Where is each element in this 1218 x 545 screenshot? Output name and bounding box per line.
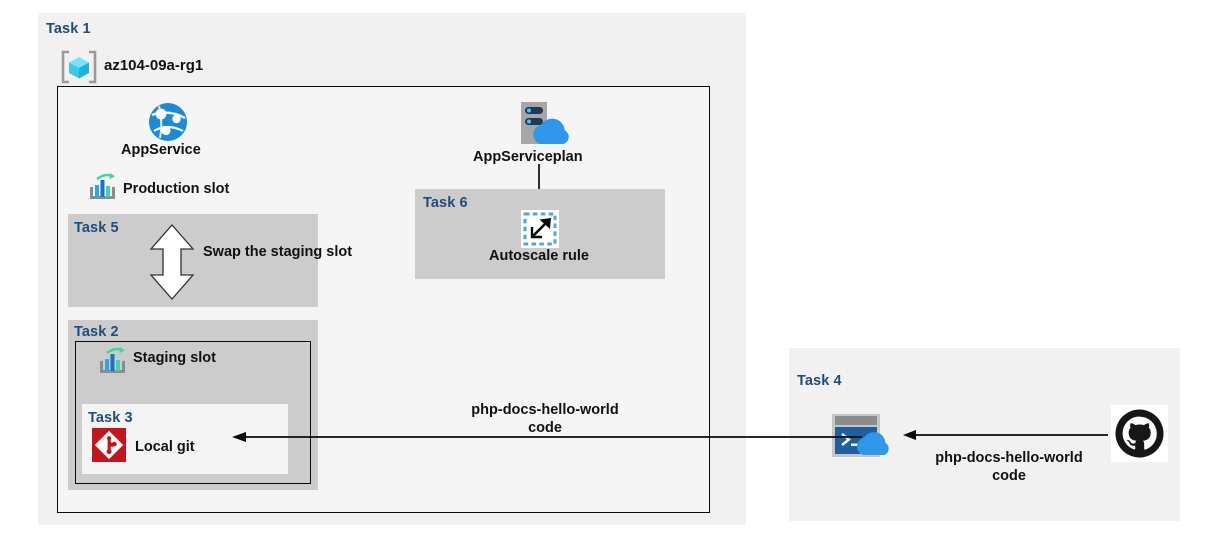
task6-label: Task 6 bbox=[423, 195, 468, 211]
git-logo-icon bbox=[92, 428, 126, 462]
double-headed-vertical-arrow-icon bbox=[148, 223, 196, 301]
appservice-label: AppService bbox=[121, 142, 201, 160]
task2-label: Task 2 bbox=[74, 324, 119, 340]
production-slot-label: Production slot bbox=[123, 181, 229, 199]
github-logo-icon bbox=[1111, 405, 1168, 462]
center-arrow-label: php-docs-hello-world code bbox=[462, 402, 628, 437]
resource-group-name: az104-09a-rg1 bbox=[104, 57, 203, 75]
autoscale-rule-label: Autoscale rule bbox=[489, 248, 589, 266]
diagram-canvas: Task 1 az104-09a-rg1 AppService bbox=[0, 0, 1218, 545]
app-service-globe-icon bbox=[147, 101, 189, 143]
task3-label: Task 3 bbox=[88, 410, 133, 426]
task1-label: Task 1 bbox=[46, 21, 91, 37]
task4-arrow-label: php-docs-hello-world code bbox=[925, 450, 1093, 485]
task4-label: Task 4 bbox=[797, 373, 842, 389]
task5-description-text: Swap the staging slot bbox=[203, 244, 352, 260]
resource-group-cube-icon bbox=[60, 50, 98, 84]
cloud-shell-icon bbox=[831, 413, 901, 458]
task5-description: Swap the staging slot bbox=[203, 244, 352, 262]
autoscale-arrow-icon bbox=[521, 210, 559, 248]
task5-label: Task 5 bbox=[74, 220, 119, 236]
app-service-plan-icon bbox=[512, 100, 572, 148]
deployment-slot-icon bbox=[88, 173, 118, 201]
staging-slot-label: Staging slot bbox=[133, 350, 216, 368]
local-git-label: Local git bbox=[135, 439, 195, 457]
deployment-slot-icon bbox=[98, 347, 128, 375]
